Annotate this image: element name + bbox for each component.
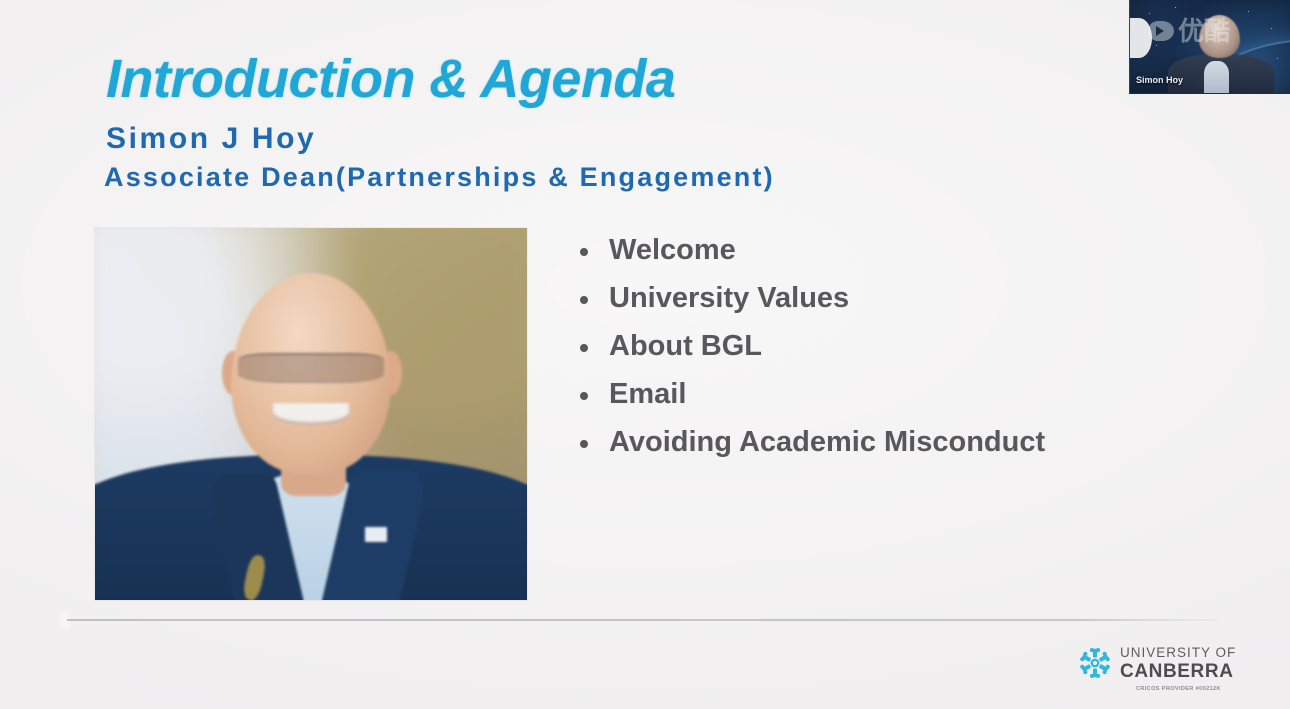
star-speck xyxy=(1271,28,1272,29)
bullet-icon xyxy=(580,296,588,304)
uc-logo-wordmark: UNIVERSITY OF CANBERRA xyxy=(1120,646,1236,681)
agenda-item-label: Email xyxy=(609,380,686,409)
list-item: University Values xyxy=(580,284,1045,313)
youku-watermark: 优酷 xyxy=(1148,18,1230,44)
photo-subject xyxy=(95,228,527,600)
presentation-slide: Introduction & Agenda Simon J Hoy Associ… xyxy=(0,0,1290,709)
list-item: About BGL xyxy=(580,332,1045,361)
list-item: Welcome xyxy=(580,236,1045,265)
footer-divider xyxy=(67,619,1218,621)
cricos-provider-text: CRICOS PROVIDER #00212K xyxy=(1136,686,1221,692)
university-logo: UNIVERSITY OF CANBERRA xyxy=(1078,646,1236,681)
list-item: Avoiding Academic Misconduct xyxy=(580,428,1045,457)
photo-glasses xyxy=(238,353,385,383)
list-item: Email xyxy=(580,380,1045,409)
bullet-icon xyxy=(580,248,588,256)
uc-logo-line1: UNIVERSITY OF xyxy=(1120,646,1236,660)
bullet-icon xyxy=(580,440,588,448)
agenda-list: Welcome University Values About BGL Emai… xyxy=(580,236,1045,476)
presenter-name: Simon J Hoy xyxy=(106,122,316,156)
bullet-icon xyxy=(580,344,588,352)
photo-lapel-badge xyxy=(365,527,387,542)
agenda-item-label: Avoiding Academic Misconduct xyxy=(609,428,1045,457)
agenda-item-label: Welcome xyxy=(609,236,736,265)
photo-smile xyxy=(272,403,350,425)
agenda-item-label: About BGL xyxy=(609,332,762,361)
webcam-participant-name: Simon Hoy xyxy=(1136,75,1183,85)
webcam-subject-shirt xyxy=(1204,61,1230,93)
agenda-item-label: University Values xyxy=(609,284,849,313)
presenter-portrait-photo xyxy=(95,228,527,600)
presenter-role: Associate Dean(Partnerships & Engagement… xyxy=(104,162,775,193)
youku-watermark-text: 优酷 xyxy=(1178,18,1230,44)
bullet-icon xyxy=(580,392,588,400)
uc-logo-line2: CANBERRA xyxy=(1120,662,1236,681)
uc-snowflake-icon xyxy=(1078,646,1112,680)
star-speck xyxy=(1156,45,1157,46)
page-title: Introduction & Agenda xyxy=(106,48,675,110)
webcam-pip-overlay[interactable]: 优酷 Simon Hoy xyxy=(1129,0,1290,94)
